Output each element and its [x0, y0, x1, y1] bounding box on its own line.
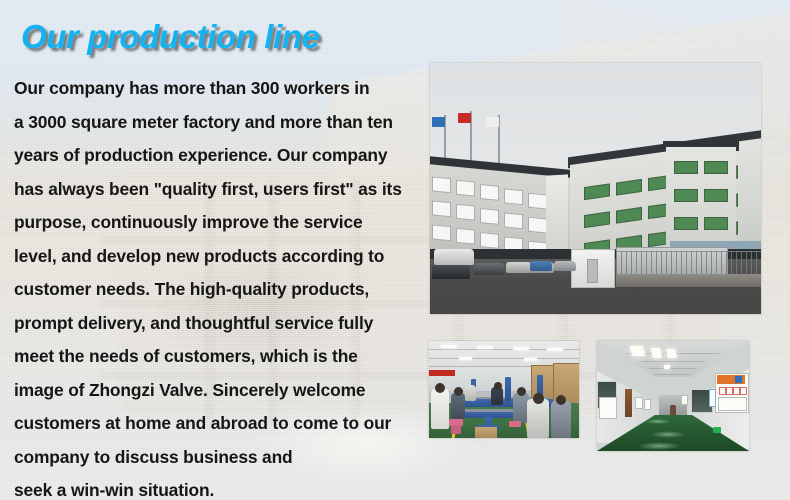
wooden-door — [625, 389, 632, 417]
exit-sign — [713, 427, 721, 433]
stool-leg — [451, 425, 461, 434]
wall-frame — [681, 395, 688, 405]
window — [480, 208, 499, 225]
paragraph-line: has always been "quality first, users fi… — [14, 173, 426, 207]
car-blue — [530, 261, 552, 271]
paragraph-line: prompt delivery, and thoughtful service … — [14, 307, 426, 341]
page-title: Our production line — [21, 18, 320, 56]
window — [504, 188, 523, 205]
worker — [451, 393, 465, 419]
worker — [431, 389, 449, 429]
flag-blue — [432, 117, 445, 127]
worker — [465, 385, 476, 401]
ceiling-lamp — [441, 345, 457, 348]
factory-exterior-photo — [430, 63, 761, 314]
cardboard-box — [475, 427, 497, 438]
paragraph-line: level, and develop new products accordin… — [14, 240, 426, 274]
worker-head — [454, 387, 463, 396]
notice-item — [733, 387, 740, 395]
paragraph-line: seek a win-win situation. — [14, 474, 426, 500]
whiteboard — [718, 397, 747, 411]
notice-item — [740, 387, 747, 395]
worker-head — [494, 382, 502, 390]
floor-reflection — [645, 419, 671, 424]
company-description-text: Our company has more than 300 workers in… — [14, 72, 426, 500]
notice-item — [719, 387, 726, 395]
window-green — [704, 189, 728, 202]
notice-board-badge — [735, 376, 742, 383]
worker — [551, 401, 571, 438]
window — [432, 224, 451, 241]
red-banner — [429, 370, 455, 376]
ceiling-lamp — [477, 346, 493, 349]
flag-red — [458, 113, 471, 123]
paragraph-line: company to discuss business and — [14, 441, 426, 475]
ceiling-lamp — [513, 347, 529, 350]
paragraph-line: meet the needs of customers, which is th… — [14, 340, 426, 374]
window-green — [616, 179, 642, 196]
window — [480, 184, 499, 201]
paragraph-line: Our company has more than 300 workers in — [14, 72, 426, 106]
window — [480, 232, 499, 249]
wall-frame — [635, 397, 643, 409]
stone-wall — [616, 274, 761, 287]
window-green — [674, 189, 698, 202]
ceiling-light — [666, 349, 677, 358]
worker-head — [556, 395, 566, 405]
window-green — [584, 211, 610, 228]
ceiling-grid-line — [641, 361, 705, 362]
ceiling-line — [429, 358, 579, 359]
ceiling-lamp — [547, 348, 563, 351]
ceiling-light — [651, 348, 662, 358]
window — [528, 193, 547, 210]
ceiling-lamp — [524, 358, 537, 361]
paragraph-line: a 3000 square meter factory and more tha… — [14, 106, 426, 140]
paragraph-line: customers at home and abroad to come to … — [14, 407, 426, 441]
window-green — [704, 217, 728, 230]
ceiling-lamp — [459, 357, 472, 360]
paragraph-line: years of production experience. Our comp… — [14, 139, 426, 173]
window — [432, 176, 451, 193]
paragraph-line: image of Zhongzi Valve. Sincerely welcom… — [14, 374, 426, 408]
car — [432, 265, 470, 279]
window — [432, 200, 451, 217]
window-green — [584, 183, 610, 200]
corridor-photo — [597, 341, 749, 451]
worker-head — [517, 387, 526, 396]
floor-reflection — [651, 431, 685, 438]
worker — [527, 399, 549, 438]
ceiling-grid-line — [649, 368, 697, 369]
stool — [509, 421, 521, 427]
paragraph-line: customer needs. The high-quality product… — [14, 273, 426, 307]
bench-post — [505, 377, 511, 401]
flag-white — [486, 117, 499, 127]
window — [504, 212, 523, 229]
ceiling-light — [630, 346, 646, 356]
window — [456, 180, 475, 197]
floor-reflection — [637, 442, 681, 450]
car — [506, 262, 532, 273]
ceiling-grid-line — [655, 374, 691, 375]
window-green — [616, 207, 642, 224]
wall-frame — [644, 399, 651, 410]
ceiling-light-far — [664, 365, 670, 369]
notice-board — [599, 397, 617, 419]
production-line-banner: Our production line Our company has more… — [0, 0, 790, 500]
window — [456, 204, 475, 221]
worker-head — [435, 383, 445, 393]
window-green — [674, 161, 698, 174]
window — [456, 228, 475, 245]
notice-item — [726, 387, 733, 395]
window-green — [674, 217, 698, 230]
car — [474, 263, 504, 275]
worker-head — [533, 393, 544, 404]
window-green — [704, 161, 728, 174]
window — [528, 217, 547, 234]
car — [554, 261, 576, 271]
guard-hut-door — [587, 259, 598, 283]
paragraph-line: purpose, continuously improve the servic… — [14, 206, 426, 240]
workshop-photo — [429, 341, 579, 438]
van — [434, 249, 474, 265]
wall-sign — [709, 389, 716, 407]
